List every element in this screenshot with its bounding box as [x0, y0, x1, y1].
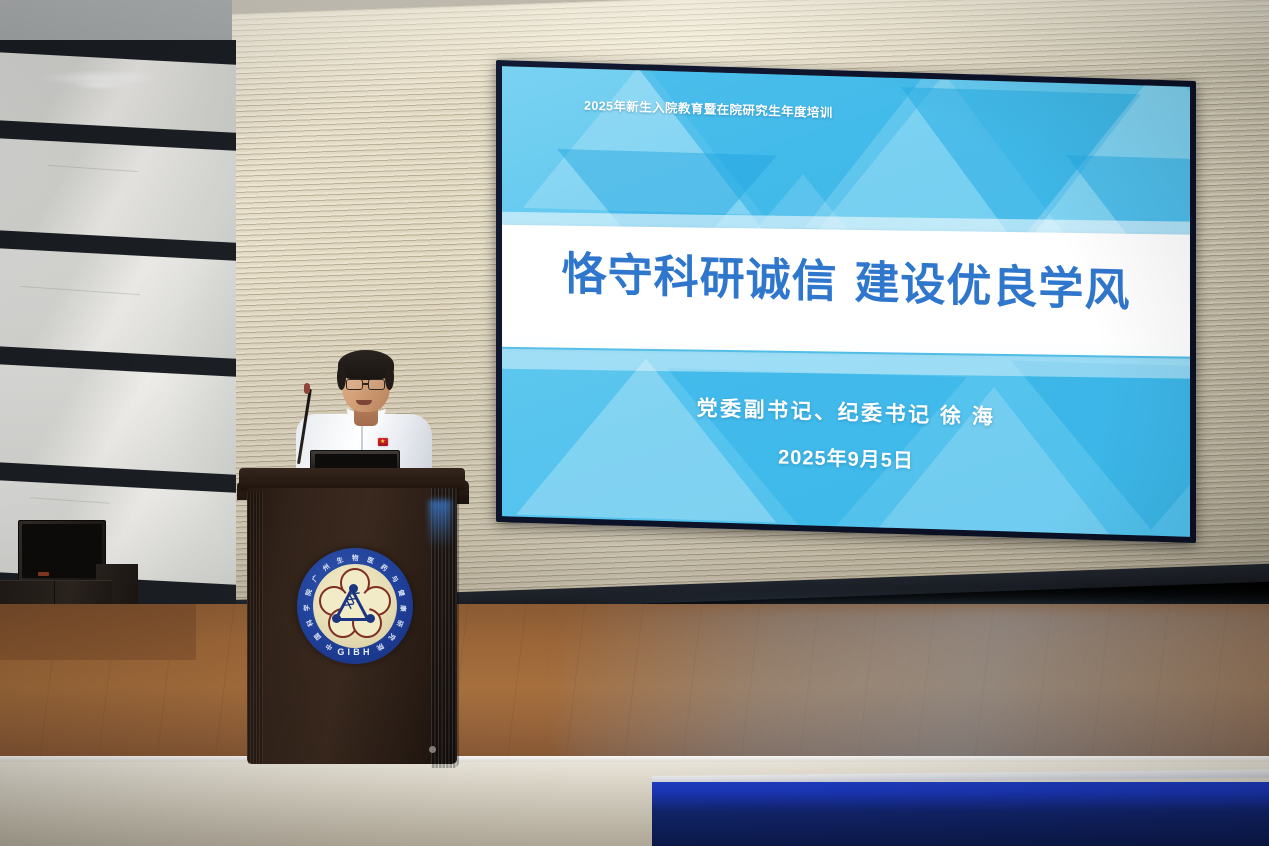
slide-content: 2025年新生入院教育暨在院研究生年度培训 恪守科研诚信 建设优良学风 党委副书…	[502, 66, 1190, 537]
hair-side	[337, 364, 346, 390]
mouth	[356, 400, 372, 405]
glasses-lens	[346, 379, 363, 390]
blue-draped-table	[652, 782, 1269, 846]
podium: XXX GIBH 中国科学院广州生物医药与健康研究院	[233, 468, 471, 763]
emblem-ring-char: 与	[390, 573, 402, 584]
emblem-ring-char: 医	[366, 554, 375, 566]
emblem-ring-char: 国	[311, 631, 323, 642]
institute-emblem: XXX GIBH 中国科学院广州生物医药与健康研究院	[297, 548, 413, 664]
marble-panel	[0, 52, 236, 133]
marble-panel	[0, 138, 236, 243]
emblem-ring-char: 究	[387, 632, 399, 643]
floor-left-section	[0, 604, 196, 660]
emblem-ring-char: 药	[379, 561, 390, 573]
podium-left-fluting	[247, 492, 263, 764]
marble-panel	[0, 248, 236, 359]
screen-bezel: 2025年新生入院教育暨在院研究生年度培训 恪守科研诚信 建设优良学风 党委副书…	[496, 60, 1196, 543]
monitor-panel	[22, 524, 102, 578]
emblem-ring-char: 学	[301, 604, 311, 611]
podium-indicator-light	[429, 746, 436, 753]
pin-star-icon: ★	[380, 439, 385, 445]
emblem-ring-char: 州	[320, 561, 331, 573]
wall-monitor	[18, 520, 106, 582]
glasses-lens	[368, 379, 385, 390]
podium-edge-glow	[429, 500, 451, 548]
emblem-ring-char: 院	[302, 588, 313, 597]
emblem-ring-char: 物	[352, 552, 359, 562]
marble-panel	[0, 364, 236, 475]
emblem-ring-char: 健	[396, 588, 407, 597]
glasses-bridge	[363, 383, 368, 385]
conference-photo-scene: 2025年新生入院教育暨在院研究生年度培训 恪守科研诚信 建设优良学风 党委副书…	[0, 0, 1269, 846]
emblem-ring-text: 中国科学院广州生物医药与健康研究院	[297, 548, 413, 664]
emblem-ring-char: 研	[395, 619, 407, 629]
people-group-icon	[538, 103, 575, 104]
hair-side	[385, 364, 394, 390]
laptop-screen	[315, 454, 397, 468]
led-presentation-screen[interactable]: 2025年新生入院教育暨在院研究生年度培训 恪守科研诚信 建设优良学风 党委副书…	[496, 60, 1196, 543]
emblem-ring-char: 科	[303, 619, 315, 629]
podium-top-surface	[239, 468, 465, 490]
emblem-ring-char: 康	[399, 605, 409, 612]
marble-highlight	[70, 80, 130, 90]
emblem-ring-char: 生	[335, 554, 344, 566]
emblem-ring-char: 中	[323, 641, 334, 653]
left-marble-wall	[0, 40, 236, 640]
microphone-head	[304, 383, 310, 394]
monitor-logo	[38, 572, 49, 576]
emblem-ring-char: 广	[309, 573, 321, 584]
emblem-ring-char: 院	[375, 642, 386, 654]
